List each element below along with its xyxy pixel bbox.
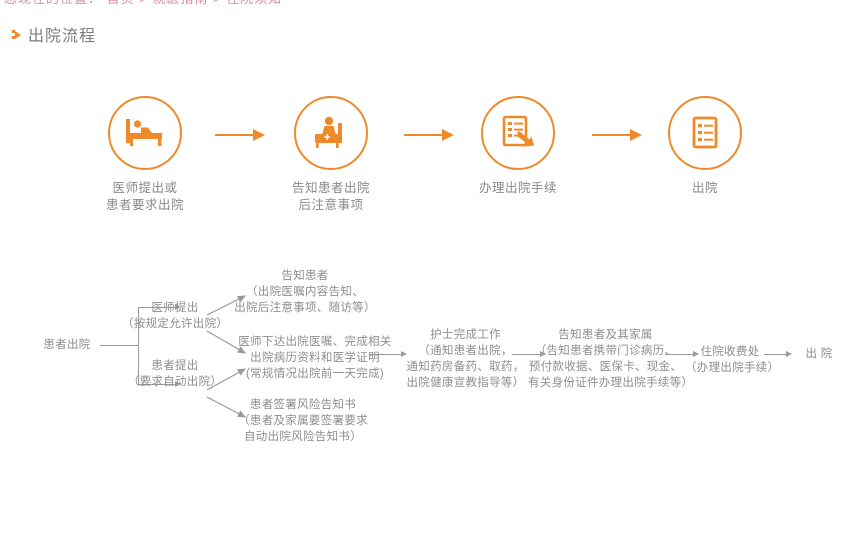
flow-node-inform-family-line1: 告知患者及其家属: [528, 327, 683, 343]
flow-node-doctor-orders-line2: 出院病历资料和医学证明: [230, 350, 400, 366]
step-4-circle: [668, 96, 742, 170]
breadcrumb-strip: 您现在的位置： 首页 > 就医指南 > 住院须知: [0, 0, 854, 9]
step-doctor-proposes: 医师提出或 患者要求出院: [70, 96, 220, 214]
step-1-caption-line1: 医师提出或: [70, 180, 220, 197]
clipboard-list-icon: [685, 113, 725, 153]
orange-arrow-bullet-icon: [12, 29, 21, 40]
breadcrumb[interactable]: 您现在的位置： 首页 > 就医指南 > 住院须知: [4, 0, 282, 7]
flow-node-risk-notice-line1: 患者签署风险告知书: [228, 397, 378, 413]
flow-node-doctor-orders-line3: (常规情况出院前一天完成): [230, 366, 400, 382]
step-complete-formalities: 办理出院手续: [443, 96, 593, 197]
flow-node-inform-patient-line2: （出院医嘱内容告知、: [230, 284, 380, 300]
step-3-caption: 办理出院手续: [443, 180, 593, 197]
flow-line-to-nurse: [370, 354, 403, 355]
page-title-label: 出院流程: [28, 22, 96, 46]
flow-node-doctor-orders: 医师下达出院医嘱、完成相关 出院病历资料和医学证明 (常规情况出院前一天完成): [230, 334, 400, 382]
flow-node-inform-patient: 告知患者 （出院医嘱内容告知、 出院后注意事项、随访等）: [230, 268, 380, 316]
flow-node-inform-patient-line3: 出院后注意事项、随访等）: [230, 300, 380, 316]
hospital-bed-patient-icon: [122, 113, 168, 153]
step-3-circle: [481, 96, 555, 170]
flow-node-cashier: 住院收费处 （办理出院手续）: [685, 344, 775, 376]
step-discharged: 出院: [630, 96, 780, 197]
flow-node-inform-family-line2: （告知患者携带门诊病历、: [528, 343, 683, 359]
flow-node-inform-family: 告知患者及其家属 （告知患者携带门诊病历、 预付款收据、医保卡、现金、 有关身份…: [528, 327, 683, 391]
checklist-download-icon: [496, 112, 540, 154]
step-3-caption-line1: 办理出院手续: [443, 180, 593, 197]
flow-node-doctor-orders-line1: 医师下达出院医嘱、完成相关: [230, 334, 400, 350]
flow-node-cashier-line2: （办理出院手续）: [685, 360, 775, 376]
flow-node-cashier-line1: 住院收费处: [685, 344, 775, 360]
flow-node-risk-notice: 患者签署风险告知书 （患者及家属要签署要求 自动出院风险告知书）: [228, 397, 378, 445]
page-title: 出院流程: [12, 22, 96, 46]
step-2-caption-line1: 告知患者出院: [256, 180, 406, 197]
step-4-caption: 出院: [630, 180, 780, 197]
flow-node-start: 患者出院: [36, 337, 98, 353]
step-4-caption-line1: 出院: [630, 180, 780, 197]
flow-node-inform-patient-line1: 告知患者: [230, 268, 380, 284]
flow-node-inform-family-line4: 有关身份证件办理出院手续等）: [528, 375, 683, 391]
step-2-caption-line2: 后注意事项: [256, 197, 406, 214]
discharge-steps-row: 医师提出或 患者要求出院: [0, 96, 854, 216]
flow-node-nurse-work-line2: （通知患者出院，: [403, 343, 528, 359]
discharge-detail-flowchart: 患者出院 医师提出 （按规定允许出院） 患者提出 （要求自动出院） 告知患者: [0, 255, 854, 470]
step-1-caption: 医师提出或 患者要求出院: [70, 180, 220, 214]
flow-line-start: [100, 345, 138, 346]
flow-node-nurse-work: 护士完成工作 （通知患者出院， 通知药房备药、取药， 出院健康宣教指导等）: [403, 327, 528, 391]
flow-node-risk-notice-line2: （患者及家属要签署要求: [228, 413, 378, 429]
patient-in-bed-icon: [309, 113, 353, 153]
step-2-circle: [294, 96, 368, 170]
step-2-caption: 告知患者出院 后注意事项: [256, 180, 406, 214]
flow-node-nurse-work-line4: 出院健康宣教指导等）: [403, 375, 528, 391]
flow-node-nurse-work-line3: 通知药房备药、取药，: [403, 359, 528, 375]
step-1-caption-line2: 患者要求出院: [70, 197, 220, 214]
flow-arrow-to-end: [786, 351, 792, 357]
step-1-circle: [108, 96, 182, 170]
step-inform-discharge-notes: 告知患者出院 后注意事项: [256, 96, 406, 214]
flow-line-to-end: [764, 354, 788, 355]
flow-node-nurse-work-line1: 护士完成工作: [403, 327, 528, 343]
flow-node-end: 出 院: [794, 346, 844, 362]
flow-node-risk-notice-line3: 自动出院风险告知书）: [228, 429, 378, 445]
flow-node-inform-family-line3: 预付款收据、医保卡、现金、: [528, 359, 683, 375]
